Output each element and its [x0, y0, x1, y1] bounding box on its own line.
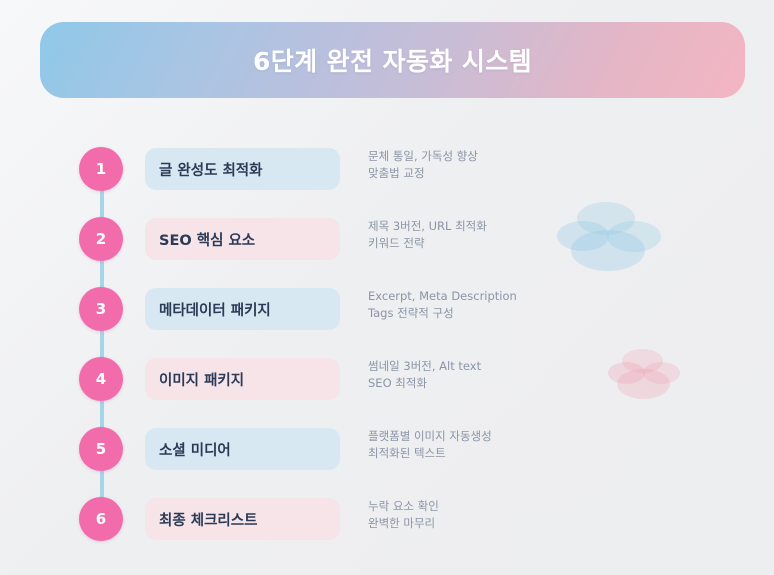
step-badge-3[interactable]: 3 — [79, 287, 123, 331]
step-badge-4[interactable]: 4 — [79, 357, 123, 401]
step-row: 6최종 체크리스트누락 요소 확인완벽한 마무리 — [0, 497, 774, 539]
step-description-line-2: 완벽한 마무리 — [368, 515, 598, 532]
step-badge-5[interactable]: 5 — [79, 427, 123, 471]
step-badge-2[interactable]: 2 — [79, 217, 123, 261]
step-pill-1[interactable]: 글 완성도 최적화 — [145, 148, 340, 190]
step-title: 글 완성도 최적화 — [159, 159, 262, 180]
step-description-line-1: Excerpt, Meta Description — [368, 288, 598, 305]
step-description: 누락 요소 확인완벽한 마무리 — [368, 498, 598, 532]
step-pill-5[interactable]: 소셜 미디어 — [145, 428, 340, 470]
step-pill-3[interactable]: 메타데이터 패키지 — [145, 288, 340, 330]
step-pill-6[interactable]: 최종 체크리스트 — [145, 498, 340, 540]
step-description: 제목 3버전, URL 최적화키워드 전략 — [368, 218, 598, 252]
step-row: 4이미지 패키지썸네일 3버전, Alt textSEO 최적화 — [0, 357, 774, 399]
step-pill-4[interactable]: 이미지 패키지 — [145, 358, 340, 400]
step-title: SEO 핵심 요소 — [159, 229, 255, 250]
step-title: 소셜 미디어 — [159, 439, 231, 460]
step-number: 2 — [96, 232, 106, 247]
step-description-line-1: 썸네일 3버전, Alt text — [368, 358, 598, 375]
step-badge-6[interactable]: 6 — [79, 497, 123, 541]
step-number: 5 — [96, 442, 106, 457]
step-description-line-1: 제목 3버전, URL 최적화 — [368, 218, 598, 235]
step-description-line-2: 최적화된 텍스트 — [368, 445, 598, 462]
step-number: 6 — [96, 512, 106, 527]
header-banner: 6단계 완전 자동화 시스템 — [40, 22, 745, 98]
step-description: 썸네일 3버전, Alt textSEO 최적화 — [368, 358, 598, 392]
step-row: 2SEO 핵심 요소제목 3버전, URL 최적화키워드 전략 — [0, 217, 774, 259]
step-row: 5소셜 미디어플랫폼별 이미지 자동생성최적화된 텍스트 — [0, 427, 774, 469]
step-description-line-2: 키워드 전략 — [368, 235, 598, 252]
infographic-canvas: 6단계 완전 자동화 시스템 1글 완성도 최적화문체 통일, 가독성 향상맞춤… — [0, 0, 774, 575]
page-title: 6단계 완전 자동화 시스템 — [253, 42, 532, 78]
step-pill-2[interactable]: SEO 핵심 요소 — [145, 218, 340, 260]
step-number: 1 — [96, 162, 106, 177]
step-number: 4 — [96, 372, 106, 387]
step-description: 문체 통일, 가독성 향상맞춤법 교정 — [368, 148, 598, 182]
step-description-line-1: 문체 통일, 가독성 향상 — [368, 148, 598, 165]
step-description-line-1: 플랫폼별 이미지 자동생성 — [368, 428, 598, 445]
step-number: 3 — [96, 302, 106, 317]
step-badge-1[interactable]: 1 — [79, 147, 123, 191]
step-description-line-2: 맞춤법 교정 — [368, 165, 598, 182]
step-description-line-1: 누락 요소 확인 — [368, 498, 598, 515]
step-description-line-2: SEO 최적화 — [368, 375, 598, 392]
step-description: Excerpt, Meta DescriptionTags 전략적 구성 — [368, 288, 598, 322]
steps-timeline: 1글 완성도 최적화문체 통일, 가독성 향상맞춤법 교정2SEO 핵심 요소제… — [0, 128, 774, 568]
step-title: 이미지 패키지 — [159, 369, 244, 390]
step-description-line-2: Tags 전략적 구성 — [368, 305, 598, 322]
step-row: 3메타데이터 패키지Excerpt, Meta DescriptionTags … — [0, 287, 774, 329]
step-title: 최종 체크리스트 — [159, 509, 257, 530]
step-row: 1글 완성도 최적화문체 통일, 가독성 향상맞춤법 교정 — [0, 147, 774, 189]
step-description: 플랫폼별 이미지 자동생성최적화된 텍스트 — [368, 428, 598, 462]
step-title: 메타데이터 패키지 — [159, 299, 271, 320]
